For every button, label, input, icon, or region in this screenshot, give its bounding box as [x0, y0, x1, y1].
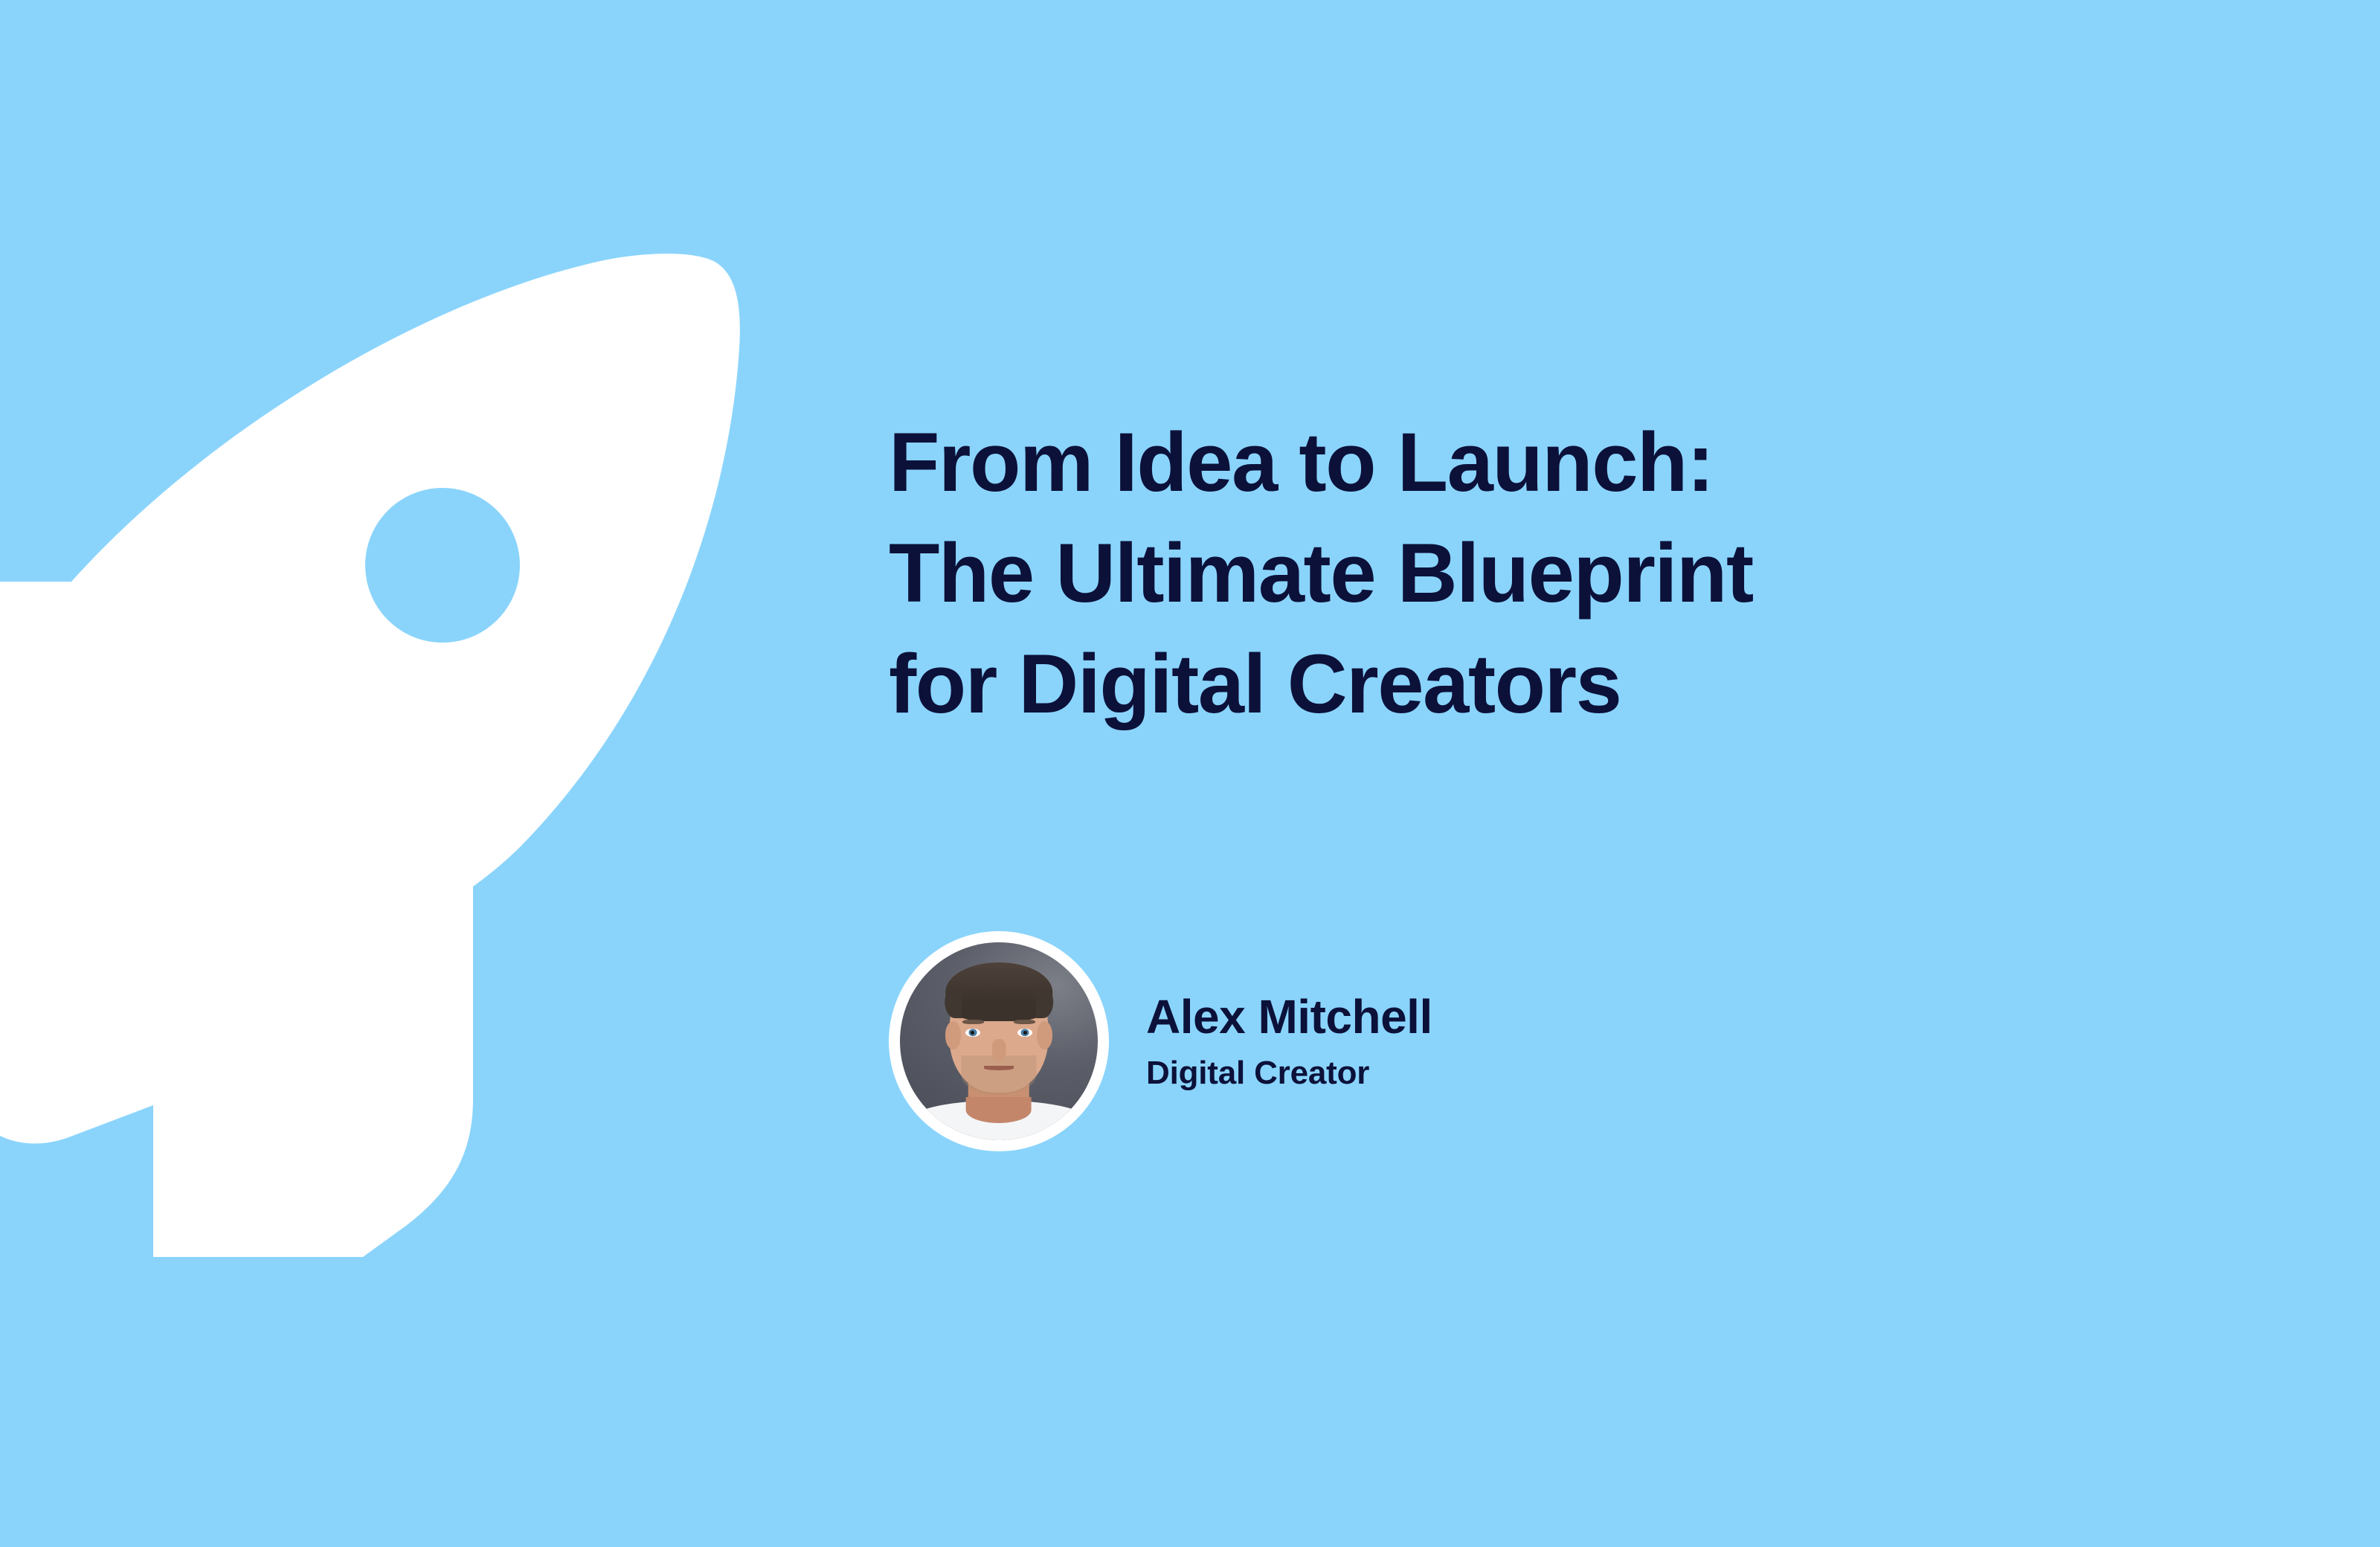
rocket-icon [0, 245, 744, 1257]
avatar-photo [900, 942, 1098, 1140]
content-column: From Idea to Launch: The Ultimate Bluepr… [889, 0, 2302, 1547]
author-role: Digital Creator [1146, 1056, 1432, 1090]
author-block: Alex Mitchell Digital Creator [889, 931, 1432, 1151]
author-name: Alex Mitchell [1146, 992, 1432, 1042]
author-text: Alex Mitchell Digital Creator [1146, 992, 1432, 1090]
page-title: From Idea to Launch: The Ultimate Bluepr… [889, 408, 2138, 740]
blog-header-card: From Idea to Launch: The Ultimate Bluepr… [0, 0, 2380, 1547]
avatar [889, 931, 1109, 1151]
